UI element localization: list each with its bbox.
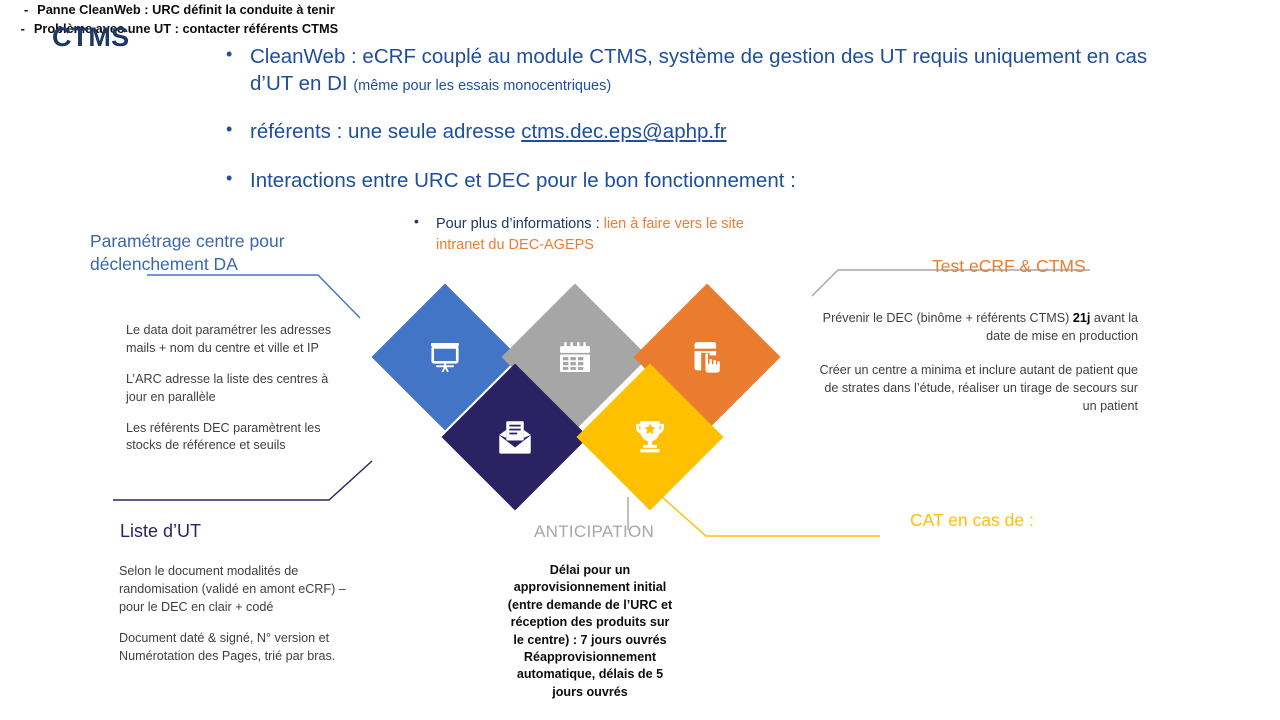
- section-heading-cat: CAT en cas de :: [910, 510, 1034, 531]
- parametrage-paragraph-3: Les référents DEC paramètrent les stocks…: [126, 420, 338, 456]
- section-heading-anticipation: ANTICIPATION: [534, 522, 654, 542]
- parametrage-paragraph-2: L’ARC adresse la liste des centres à jou…: [126, 371, 338, 407]
- cat-dash-2: -: [12, 19, 34, 38]
- email-link-ctms[interactable]: ctms.dec.eps@aphp.fr: [521, 120, 726, 143]
- cat-item-1: -Panne CleanWeb : URC définit la conduit…: [0, 0, 350, 19]
- trophy-icon: [624, 411, 676, 463]
- section-body-liste-ut: Selon le document modalités de randomisa…: [119, 563, 369, 678]
- sub-bullet-more-info: Pour plus d’informations : lien à faire …: [410, 214, 770, 255]
- section-heading-test-ecrf: Test eCRF & CTMS: [932, 256, 1086, 277]
- anticipation-paragraph-1: Délai pour un approvisionnement initial …: [505, 562, 675, 649]
- test-ecrf-p1-pre: Prévenir le DEC (binôme + référents CTMS…: [823, 311, 1073, 325]
- page-title: CTMS: [52, 22, 129, 53]
- test-ecrf-paragraph-2: Créer un centre a minima et inclure auta…: [808, 362, 1138, 416]
- bullet-list: CleanWeb : eCRF couplé au module CTMS, s…: [222, 44, 1152, 217]
- calendar-icon: [549, 331, 601, 383]
- projector-screen-icon: [419, 331, 471, 383]
- cat-dash-1: -: [15, 0, 37, 19]
- slide-canvas: CTMS CleanWeb : eCRF couplé au module CT…: [0, 0, 1280, 720]
- section-body-test-ecrf: Prévenir le DEC (binôme + référents CTMS…: [808, 310, 1138, 431]
- section-heading-liste-ut: Liste d’UT: [120, 521, 201, 542]
- anticipation-paragraph-2: Réapprovisionnement automatique, délais …: [505, 649, 675, 701]
- liste-ut-paragraph-2: Document daté & signé, N° version et Num…: [119, 630, 369, 666]
- bullet-cleanweb: CleanWeb : eCRF couplé au module CTMS, s…: [222, 44, 1152, 97]
- sub-bullet-label: Pour plus d’informations :: [436, 216, 604, 232]
- parametrage-paragraph-1: Le data doit paramétrer les adresses mai…: [126, 322, 338, 358]
- hand-touch-icon: [681, 331, 733, 383]
- bullet-interactions-text: Interactions entre URC et DEC pour le bo…: [250, 169, 796, 192]
- section-body-anticipation: Délai pour un approvisionnement initial …: [505, 562, 675, 701]
- cat-item-1-text: Panne CleanWeb : URC définit la conduite…: [37, 2, 335, 17]
- test-ecrf-paragraph-1: Prévenir le DEC (binôme + référents CTMS…: [808, 310, 1138, 346]
- test-ecrf-p1-bold: 21j: [1073, 311, 1091, 325]
- bullet-referents: référents : une seule adresse ctms.dec.e…: [222, 119, 1152, 146]
- document-envelope-icon: [489, 411, 541, 463]
- bullet-referents-text: référents : une seule adresse: [250, 120, 521, 143]
- section-body-parametrage: Le data doit paramétrer les adresses mai…: [126, 322, 338, 455]
- bullet-cleanweb-note: (même pour les essais monocentriques): [353, 78, 611, 94]
- bullet-interactions: Interactions entre URC et DEC pour le bo…: [222, 168, 1152, 195]
- liste-ut-paragraph-1: Selon le document modalités de randomisa…: [119, 563, 369, 617]
- section-heading-parametrage: Paramétrage centre pour déclenchement DA: [90, 230, 330, 276]
